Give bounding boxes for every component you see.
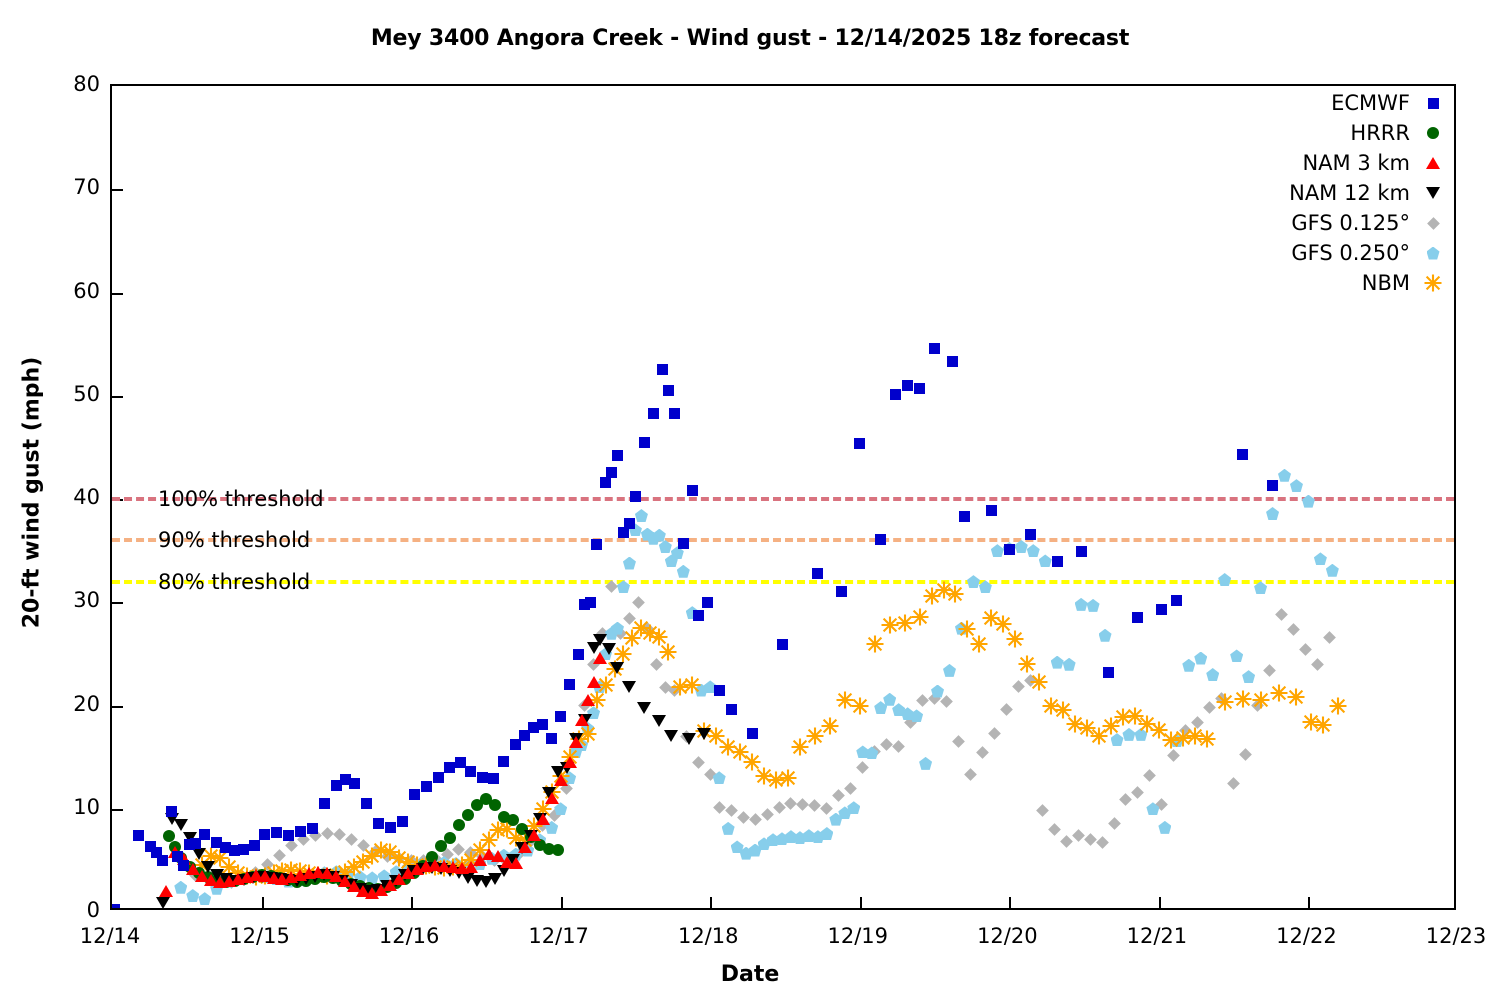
data-point — [1329, 697, 1347, 715]
data-point — [1075, 598, 1088, 611]
data-point — [1227, 778, 1240, 791]
x-tick-label: 12/15 — [200, 924, 320, 948]
data-point — [1290, 479, 1303, 492]
data-point — [518, 841, 532, 853]
data-point — [856, 761, 869, 774]
data-point — [940, 695, 953, 708]
y-tick-label: 20 — [28, 692, 100, 716]
data-point — [564, 679, 575, 690]
data-point — [1323, 631, 1336, 644]
data-point — [883, 693, 896, 706]
y-tick-label: 30 — [28, 588, 100, 612]
x-axis-label: Date — [0, 962, 1500, 987]
x-tick-label: 12/21 — [1097, 924, 1217, 948]
data-point — [563, 756, 577, 768]
data-point — [946, 585, 964, 603]
data-point — [737, 811, 750, 824]
data-point — [585, 597, 596, 608]
data-point — [1278, 469, 1291, 482]
threshold-label: 90% threshold — [158, 528, 310, 552]
data-point — [697, 728, 711, 740]
data-point — [1239, 748, 1252, 761]
legend-label: GFS 0.250° — [1291, 241, 1410, 265]
data-point — [866, 635, 884, 653]
data-point — [611, 622, 624, 635]
data-point — [713, 801, 726, 814]
data-point — [677, 565, 690, 578]
data-point — [820, 827, 833, 840]
legend-label: HRRR — [1350, 121, 1410, 145]
data-point — [875, 534, 886, 545]
data-point — [295, 826, 306, 837]
data-point — [832, 789, 845, 802]
data-point — [1132, 786, 1145, 799]
data-point — [587, 676, 601, 688]
data-point — [444, 762, 455, 773]
y-tick-label: 70 — [28, 175, 100, 199]
data-point — [1087, 599, 1100, 612]
data-point — [1167, 749, 1180, 762]
data-point — [914, 383, 925, 394]
data-point — [1234, 690, 1252, 708]
data-point — [199, 829, 210, 840]
data-point — [880, 738, 893, 751]
data-point — [1076, 546, 1087, 557]
data-point — [854, 438, 865, 449]
x-tick-mark — [411, 897, 413, 908]
data-point — [902, 380, 913, 391]
data-point — [271, 827, 282, 838]
data-point — [421, 781, 432, 792]
data-point — [916, 694, 929, 707]
data-point — [635, 509, 648, 522]
data-point — [779, 769, 797, 787]
data-point — [1025, 529, 1036, 540]
data-point — [159, 885, 173, 897]
data-point — [986, 505, 997, 516]
data-point — [397, 816, 408, 827]
data-point — [373, 818, 384, 829]
data-point — [198, 892, 211, 905]
data-point — [669, 408, 680, 419]
x-tick-label: 12/20 — [947, 924, 1067, 948]
data-point — [931, 685, 944, 698]
x-tick-mark — [262, 897, 264, 908]
data-point — [488, 773, 499, 784]
data-point — [821, 802, 834, 815]
legend-label: ECMWF — [1331, 91, 1410, 115]
data-point — [433, 772, 444, 783]
data-point — [1048, 823, 1061, 836]
data-point — [283, 830, 294, 841]
data-point — [178, 860, 189, 871]
data-point — [1103, 667, 1114, 678]
data-point — [489, 799, 501, 811]
data-point — [321, 827, 334, 840]
data-point — [385, 822, 396, 833]
chart-figure: Mey 3400 Angora Creek - Wind gust - 12/1… — [0, 0, 1500, 1000]
data-point — [623, 557, 636, 570]
legend-item-nbm[interactable]: NBM — [1226, 268, 1456, 298]
data-point — [593, 652, 607, 664]
data-point — [725, 804, 738, 817]
data-point — [1122, 728, 1135, 741]
data-point — [606, 467, 617, 478]
x-tick-mark — [1159, 897, 1161, 908]
data-point — [836, 586, 847, 597]
data-point — [1252, 691, 1270, 709]
data-point — [976, 747, 989, 760]
data-point — [964, 768, 977, 781]
data-point — [749, 813, 762, 826]
data-point — [453, 819, 465, 831]
data-point — [1326, 564, 1339, 577]
legend-label: NBM — [1362, 271, 1410, 295]
x-tick-mark — [860, 897, 862, 908]
data-point — [238, 844, 249, 855]
chart-legend: ECMWFHRRRNAM 3 kmNAM 12 kmGFS 0.125°GFS … — [1226, 88, 1456, 298]
x-tick-label: 12/23 — [1396, 924, 1500, 948]
data-point — [133, 830, 144, 841]
data-point — [1218, 573, 1231, 586]
data-point — [892, 740, 905, 753]
data-point — [1096, 836, 1109, 849]
data-point — [959, 511, 970, 522]
threshold-line — [112, 580, 1454, 584]
data-point — [444, 832, 456, 844]
data-point — [552, 844, 564, 856]
y-tick-mark — [112, 293, 123, 295]
y-tick-label: 0 — [28, 898, 100, 922]
data-point — [747, 728, 758, 739]
x-tick-mark — [710, 897, 712, 908]
data-point — [345, 833, 358, 846]
data-point — [498, 756, 509, 767]
y-tick-label: 50 — [28, 382, 100, 406]
data-point — [726, 704, 737, 715]
data-point — [637, 702, 651, 714]
data-point — [1099, 629, 1112, 642]
data-point — [659, 643, 677, 661]
data-point — [285, 840, 298, 853]
data-point — [273, 849, 286, 862]
data-point — [1230, 649, 1243, 662]
data-point — [970, 635, 988, 653]
data-point — [683, 676, 701, 694]
data-point — [653, 529, 666, 542]
data-point — [156, 897, 170, 909]
data-point — [319, 798, 330, 809]
data-point — [890, 389, 901, 400]
data-point — [1171, 595, 1182, 606]
data-point — [1191, 716, 1204, 729]
data-point — [1012, 681, 1025, 694]
data-point — [1267, 480, 1278, 491]
y-tick-label: 10 — [28, 795, 100, 819]
data-point — [1275, 608, 1288, 621]
data-point — [536, 813, 550, 825]
legend-item-nam-12-km[interactable]: NAM 12 km — [1226, 178, 1456, 208]
data-point — [455, 757, 466, 768]
data-point — [1144, 769, 1157, 782]
data-point — [259, 829, 270, 840]
data-point — [509, 857, 523, 869]
data-point — [652, 715, 666, 727]
data-point — [1084, 833, 1097, 846]
data-point — [1206, 668, 1219, 681]
data-point — [1018, 655, 1036, 673]
data-point — [988, 727, 1001, 740]
data-point — [174, 819, 188, 831]
data-point — [1198, 730, 1216, 748]
data-point — [537, 719, 548, 730]
data-point — [967, 575, 980, 588]
data-point — [1108, 817, 1121, 830]
data-point — [1194, 652, 1207, 665]
data-point — [1287, 623, 1300, 636]
legend-label: GFS 0.125° — [1291, 211, 1410, 235]
data-point — [991, 544, 1004, 557]
data-point — [361, 798, 372, 809]
data-point — [163, 830, 175, 842]
data-point — [186, 889, 199, 902]
data-point — [1060, 835, 1073, 848]
data-point — [349, 778, 360, 789]
data-point — [477, 772, 488, 783]
legend-item-gfs-0-250[interactable]: GFS 0.250° — [1226, 238, 1456, 268]
data-point — [600, 477, 611, 488]
data-point — [581, 694, 595, 706]
x-tick-mark — [561, 897, 563, 908]
data-point — [249, 840, 260, 851]
data-point — [722, 822, 735, 835]
data-point — [1216, 693, 1234, 711]
data-point — [1242, 670, 1255, 683]
y-tick-mark — [112, 706, 123, 708]
data-point — [614, 645, 632, 663]
y-tick-label: 40 — [28, 485, 100, 509]
data-point — [952, 735, 965, 748]
data-point — [1030, 673, 1048, 691]
data-point — [657, 364, 668, 375]
y-tick-mark — [112, 602, 123, 604]
data-point — [809, 799, 822, 812]
data-point — [1051, 656, 1064, 669]
data-point — [1266, 507, 1279, 520]
data-point — [1237, 449, 1248, 460]
data-point — [1036, 804, 1049, 817]
data-point — [847, 801, 860, 814]
y-tick-mark — [112, 189, 123, 191]
data-point — [648, 408, 659, 419]
data-point — [1311, 658, 1324, 671]
data-point — [622, 681, 636, 693]
data-point — [702, 597, 713, 608]
data-point — [714, 685, 725, 696]
data-point — [1132, 612, 1143, 623]
x-tick-label: 12/14 — [50, 924, 170, 948]
data-point — [1004, 544, 1015, 555]
data-point — [174, 881, 187, 894]
data-point — [693, 610, 704, 621]
data-point — [812, 568, 823, 579]
data-point — [1156, 604, 1167, 615]
x-tick-mark — [1009, 897, 1011, 908]
data-point — [761, 809, 774, 822]
data-point — [546, 733, 557, 744]
y-tick-label: 80 — [28, 72, 100, 96]
threshold-line — [112, 538, 1454, 542]
data-point — [409, 789, 420, 800]
data-point — [462, 809, 474, 821]
y-tick-mark — [112, 396, 123, 398]
threshold-label: 80% threshold — [158, 570, 310, 594]
legend-label: NAM 12 km — [1289, 181, 1410, 205]
data-point — [1052, 556, 1063, 567]
data-point — [1270, 684, 1288, 702]
data-point — [575, 714, 589, 726]
data-point — [1120, 793, 1133, 806]
legend-item-gfs-0-125[interactable]: GFS 0.125° — [1226, 208, 1456, 238]
data-point — [630, 491, 641, 502]
data-point — [1072, 829, 1085, 842]
x-tick-label: 12/22 — [1246, 924, 1366, 948]
data-point — [610, 662, 624, 674]
data-point — [682, 733, 696, 745]
x-tick-label: 12/18 — [648, 924, 768, 948]
data-point — [545, 792, 559, 804]
data-point — [947, 356, 958, 367]
x-tick-label: 12/17 — [499, 924, 619, 948]
threshold-label: 100% threshold — [158, 487, 324, 511]
data-point — [687, 485, 698, 496]
y-tick-mark — [112, 809, 123, 811]
data-point — [911, 608, 929, 626]
data-point — [851, 697, 869, 715]
data-point — [1039, 554, 1052, 567]
legend-item-hrrr[interactable]: HRRR — [1226, 118, 1456, 148]
x-tick-label: 12/19 — [798, 924, 918, 948]
data-point — [1000, 703, 1013, 716]
data-point — [1203, 701, 1216, 714]
data-point — [678, 538, 689, 549]
data-point — [1006, 630, 1024, 648]
data-point — [1263, 664, 1276, 677]
data-point — [1299, 643, 1312, 656]
data-point — [929, 343, 940, 354]
data-point — [591, 539, 602, 550]
data-point — [1182, 659, 1195, 672]
legend-item-ecmwf[interactable]: ECMWF — [1226, 88, 1456, 118]
data-point — [777, 639, 788, 650]
data-point — [821, 717, 839, 735]
data-point — [573, 649, 584, 660]
data-point — [639, 437, 650, 448]
data-point — [569, 736, 583, 748]
data-point — [624, 518, 635, 529]
data-point — [1314, 716, 1332, 734]
data-point — [664, 730, 678, 742]
data-point — [943, 664, 956, 677]
data-point — [157, 855, 168, 866]
legend-item-nam-3-km[interactable]: NAM 3 km — [1226, 148, 1456, 178]
data-point — [554, 774, 568, 786]
x-tick-label: 12/16 — [349, 924, 469, 948]
data-point — [1158, 821, 1171, 834]
data-point — [1287, 688, 1305, 706]
data-point — [465, 766, 476, 777]
data-point — [307, 823, 318, 834]
data-point — [166, 806, 177, 817]
data-point — [692, 756, 705, 769]
data-point — [1314, 552, 1327, 565]
data-point — [1027, 544, 1040, 557]
data-point — [919, 757, 932, 770]
legend-label: NAM 3 km — [1302, 151, 1410, 175]
data-point — [527, 829, 541, 841]
chart-title: Mey 3400 Angora Creek - Wind gust - 12/1… — [0, 26, 1500, 51]
data-point — [663, 385, 674, 396]
data-point — [1063, 658, 1076, 671]
data-point — [555, 711, 566, 722]
data-point — [612, 450, 623, 461]
data-point — [110, 904, 120, 910]
data-point — [844, 782, 857, 795]
data-point — [632, 596, 645, 609]
x-tick-mark — [1308, 897, 1310, 908]
y-tick-label: 60 — [28, 279, 100, 303]
